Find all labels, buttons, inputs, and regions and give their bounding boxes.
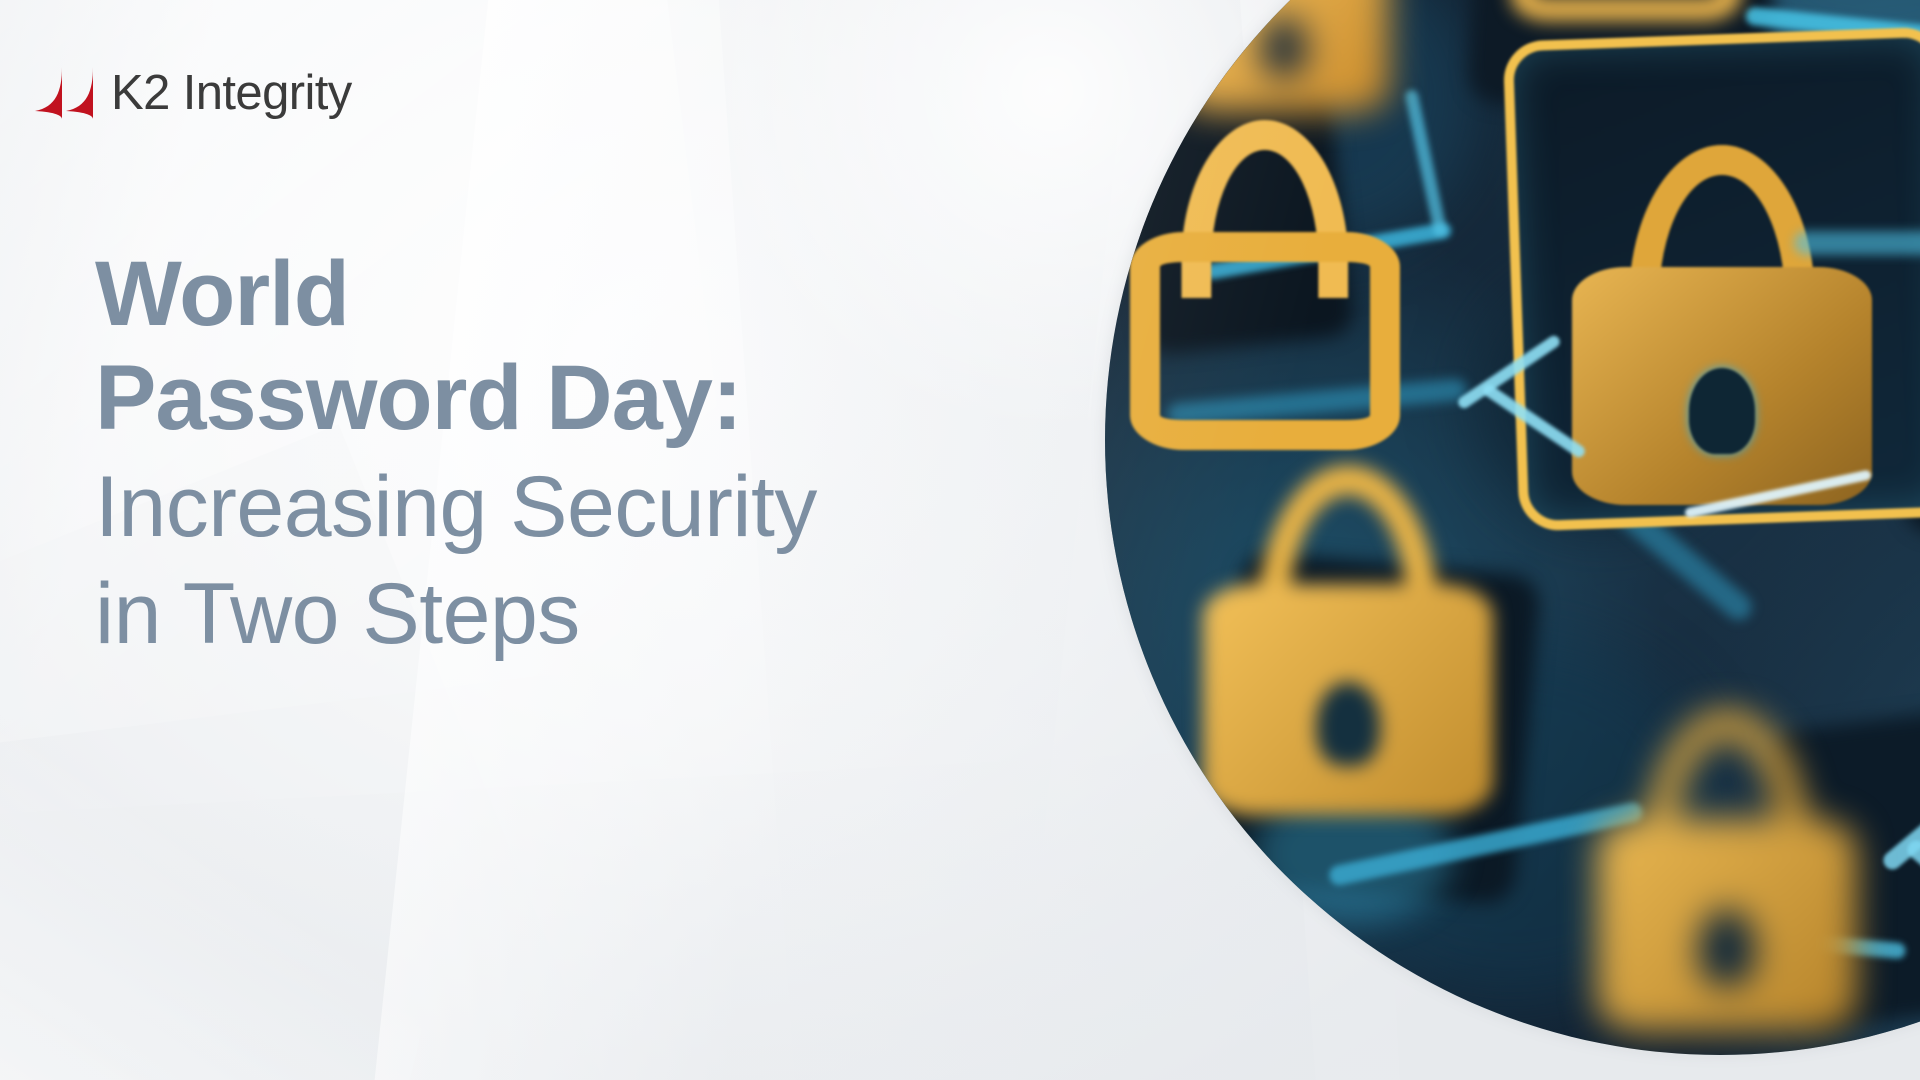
circuit-traces-front [1105,0,1920,1055]
hero-image-content [1105,0,1920,1055]
headline-text-password-day: Password Day: [95,347,1115,451]
headline-text-in-two-steps: in Two Steps [95,564,1115,665]
headline-line-4: in Two Steps [95,558,1115,665]
brand-wordmark: K2 Integrity [111,69,352,118]
k2-double-chevron-mark [33,65,97,121]
brand-logo[interactable]: K2 Integrity [33,62,352,124]
hero-image-circle [1105,0,1920,1055]
headline-line-2: Password Day: [95,347,1115,451]
headline-line-1: World [95,243,1115,347]
headline-text-world: World [95,243,1115,347]
page-title: World Password Day: Increasing Security … [95,243,1115,666]
headline-line-3: Increasing Security [95,451,1115,558]
headline-text-increasing-security: Increasing Security [95,457,1115,558]
